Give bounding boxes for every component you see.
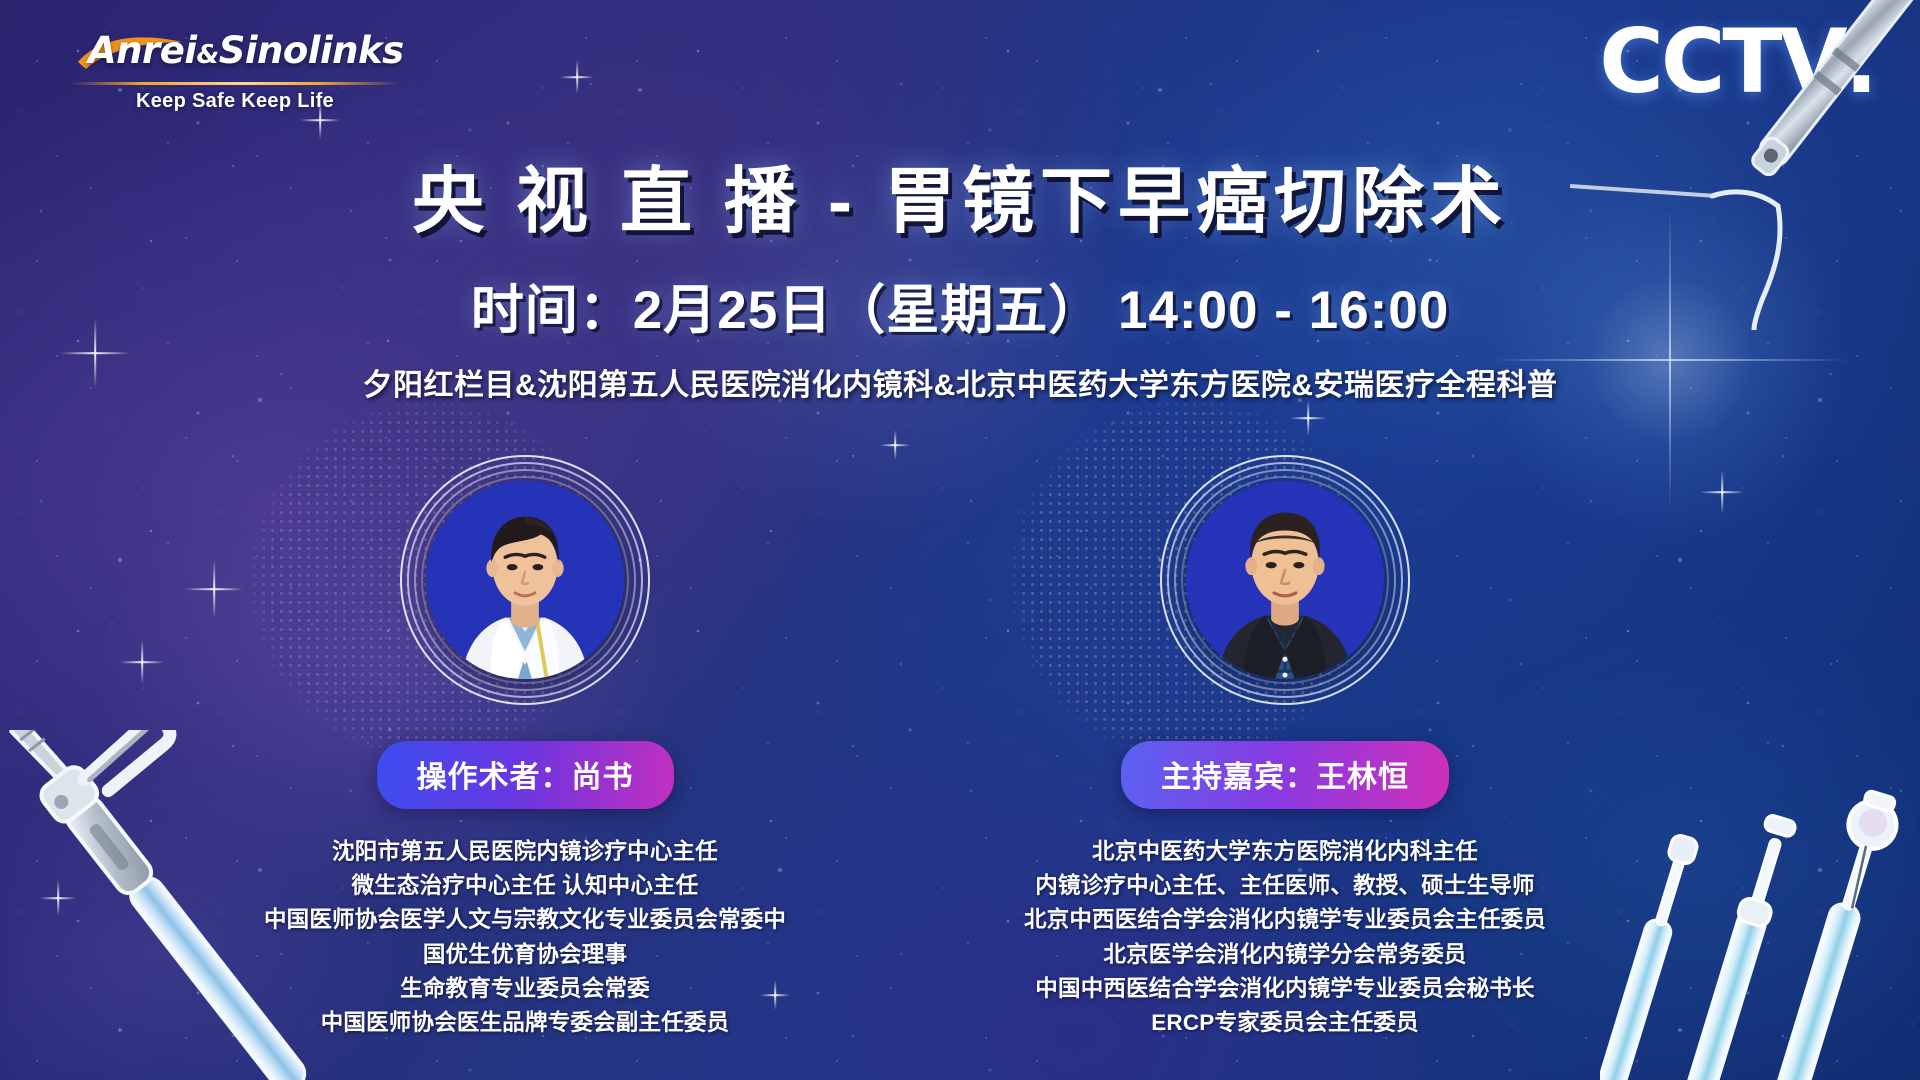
credential-line: 微生态治疗中心主任 认知中心主任	[195, 869, 855, 903]
page-title: 央 视 直 播 - 胃镜下早癌切除术	[0, 142, 1920, 247]
credential-line: 中国医师协会医生品牌专委会副主任委员	[195, 1006, 855, 1040]
credential-list-operator: 沈阳市第五人民医院内镜诊疗中心主任 微生态治疗中心主任 认知中心主任 中国医师协…	[195, 835, 855, 1040]
credential-line: 内镜诊疗中心主任、主任医师、教授、硕士生导师	[955, 869, 1615, 903]
event-time: 时间：2月25日（星期五） 14:00 - 16:00	[0, 268, 1920, 344]
logo-divider-rule	[70, 82, 400, 85]
avatar	[1160, 455, 1410, 705]
portrait-host-illustration	[1186, 481, 1384, 679]
organizers-line: 夕阳红栏目&沈阳第五人民医院消化内镜科&北京中医药大学东方医院&安瑞医疗全程科普	[0, 360, 1920, 404]
anrei-ampersand: &	[197, 40, 219, 70]
credential-line: 中国中西医结合学会消化内镜学专业委员会秘书长	[955, 972, 1615, 1006]
credential-line: 北京中医药大学东方医院消化内科主任	[955, 835, 1615, 869]
credential-line: 国优生优育协会理事	[195, 938, 855, 972]
cctv-logo: CCTV.	[1599, 18, 1878, 106]
avatar-photo-operator	[426, 481, 624, 679]
credential-list-host: 北京中医药大学东方医院消化内科主任 内镜诊疗中心主任、主任医师、教授、硕士生导师…	[955, 835, 1615, 1040]
role-badge-operator: 操作术者：尚书	[377, 741, 674, 809]
anrei-word-b: Sinolinks	[219, 29, 404, 72]
poster-canvas: Anrei&Sinolinks Keep Safe Keep Life CCTV…	[0, 0, 1920, 1080]
avatar-photo-host	[1186, 481, 1384, 679]
avatar	[400, 455, 650, 705]
credential-line: 北京医学会消化内镜学分会常务委员	[955, 938, 1615, 972]
cctv-dot: .	[1845, 10, 1878, 113]
person-card-host: 主持嘉宾：王林恒 北京中医药大学东方医院消化内科主任 内镜诊疗中心主任、主任医师…	[955, 455, 1615, 1040]
credential-line: 生命教育专业委员会常委	[195, 972, 855, 1006]
credential-line: 沈阳市第五人民医院内镜诊疗中心主任	[195, 835, 855, 869]
anrei-word-a: Anrei	[88, 29, 197, 72]
anrei-tagline: Keep Safe Keep Life	[70, 90, 400, 113]
credential-line: ERCP专家委员会主任委员	[955, 1006, 1615, 1040]
credential-line: 北京中西医结合学会消化内镜学专业委员会主任委员	[955, 903, 1615, 937]
person-card-operator: 操作术者：尚书 沈阳市第五人民医院内镜诊疗中心主任 微生态治疗中心主任 认知中心…	[195, 455, 855, 1040]
anrei-wordmark: Anrei&Sinolinks	[70, 20, 400, 69]
portrait-doctor-illustration	[426, 481, 624, 679]
anrei-sinolinks-logo: Anrei&Sinolinks Keep Safe Keep Life	[70, 20, 400, 112]
role-badge-host: 主持嘉宾：王林恒	[1121, 741, 1449, 809]
cctv-wordmark: CCTV	[1599, 10, 1844, 113]
credential-line: 中国医师协会医学人文与宗教文化专业委员会常委中	[195, 903, 855, 937]
